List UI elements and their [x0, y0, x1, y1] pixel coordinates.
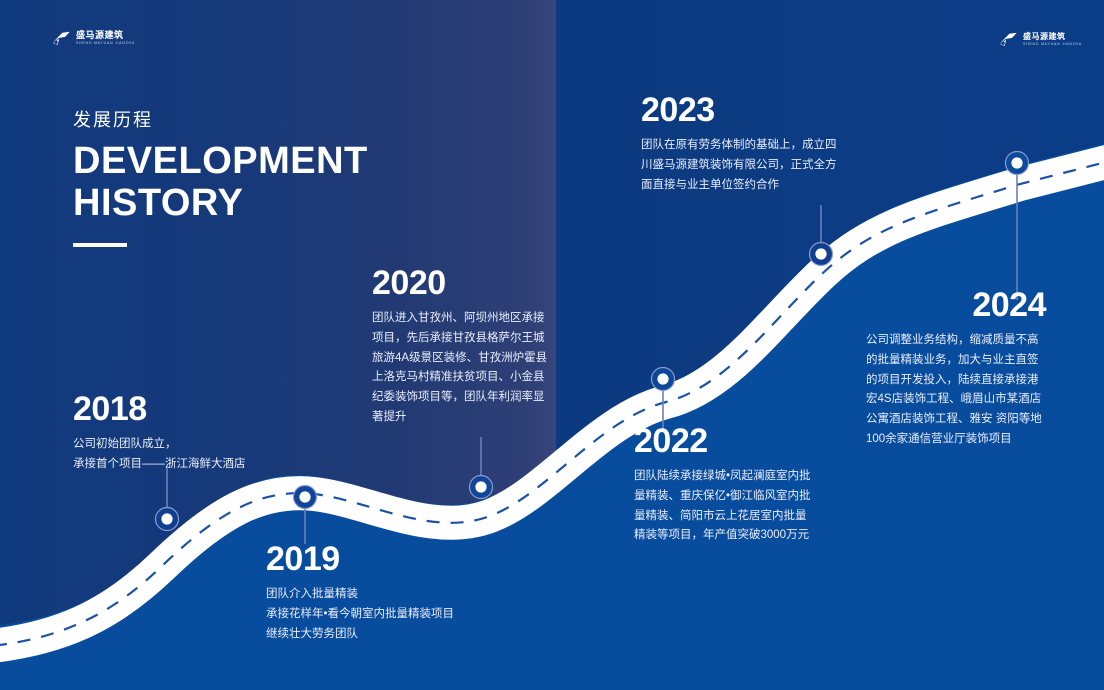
milestone-year: 2018 [73, 392, 283, 426]
milestone-text: 团队进入甘孜州、阿坝州地区承接项目，先后承接甘孜县格萨尔王城旅游4A级景区装修、… [372, 309, 550, 428]
marker-2023[interactable] [810, 243, 833, 266]
milestone-text: 团队在原有劳务体制的基础上，成立四川盛马源建筑装饰有限公司，正式全方面直接与业主… [641, 136, 847, 195]
marker-2019[interactable] [294, 486, 317, 509]
marker-2018[interactable] [156, 508, 179, 531]
logo-top-left[interactable]: 盛马源建筑 SHENG MAYUAN JIANZHU [52, 31, 135, 46]
milestone-text: 团队陆续承接绿城•凤起澜庭室内批量精装、重庆保亿•御江临风室内批量精装、简阳市云… [634, 467, 814, 546]
marker-2020[interactable] [470, 476, 493, 499]
page-title: DEVELOPMENT HISTORY [73, 141, 368, 225]
page-title-block: 发展历程 DEVELOPMENT HISTORY [73, 106, 368, 247]
page-subtitle-cn: 发展历程 [73, 106, 368, 132]
logo-name-cn: 盛马源建筑 [76, 31, 135, 40]
marker-2024[interactable] [1006, 152, 1029, 175]
logo-top-right[interactable]: 盛马源建筑 SHENG MAYUAN JIANZHU [999, 32, 1082, 47]
milestone-year: 2020 [372, 266, 550, 300]
milestone-2019: 2019 团队介入批量精装 承接花样年•看今朝室内批量精装项目 继续壮大劳务团队 [266, 542, 486, 644]
milestone-2024: 2024 公司调整业务结构，缩减质量不高的批量精装业务，加大与业主直签的项目开发… [866, 288, 1046, 450]
milestone-text: 公司调整业务结构，缩减质量不高的批量精装业务，加大与业主直签的项目开发投入，陆续… [866, 331, 1046, 450]
infographic-canvas: 盛马源建筑 SHENG MAYUAN JIANZHU 盛马源建筑 SHENG M… [0, 0, 1104, 690]
milestone-year: 2024 [866, 288, 1046, 322]
milestone-2020: 2020 团队进入甘孜州、阿坝州地区承接项目，先后承接甘孜县格萨尔王城旅游4A级… [372, 266, 550, 428]
milestone-year: 2022 [634, 424, 814, 458]
shengmayuan-logo-icon [999, 32, 1018, 47]
logo-text-right: 盛马源建筑 SHENG MAYUAN JIANZHU [1023, 33, 1082, 47]
title-underline [73, 243, 127, 247]
shengmayuan-logo-icon [52, 31, 71, 46]
milestone-text: 公司初始团队成立， 承接首个项目——浙江海鲜大酒店 [73, 435, 283, 475]
milestone-2022: 2022 团队陆续承接绿城•凤起澜庭室内批量精装、重庆保亿•御江临风室内批量精装… [634, 424, 814, 546]
milestone-text: 团队介入批量精装 承接花样年•看今朝室内批量精装项目 继续壮大劳务团队 [266, 585, 486, 644]
milestone-year: 2023 [641, 93, 847, 127]
logo-text-left: 盛马源建筑 SHENG MAYUAN JIANZHU [76, 31, 135, 46]
milestone-2018: 2018 公司初始团队成立， 承接首个项目——浙江海鲜大酒店 [73, 392, 283, 475]
marker-2022[interactable] [652, 368, 675, 391]
logo-name-en: SHENG MAYUAN JIANZHU [76, 42, 135, 46]
milestone-year: 2019 [266, 542, 486, 576]
logo-name-cn: 盛马源建筑 [1023, 33, 1082, 41]
logo-name-en: SHENG MAYUAN JIANZHU [1023, 43, 1082, 47]
milestone-2023: 2023 团队在原有劳务体制的基础上，成立四川盛马源建筑装饰有限公司，正式全方面… [641, 93, 847, 195]
